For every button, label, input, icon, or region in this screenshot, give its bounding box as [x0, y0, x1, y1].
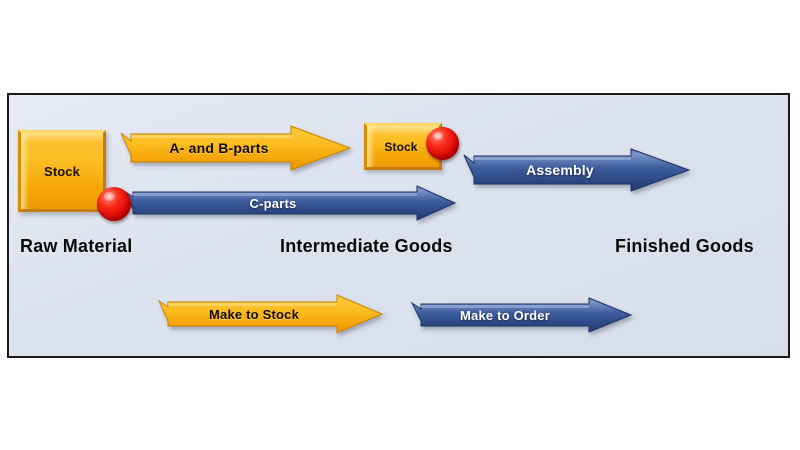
- arrow-shape: [159, 294, 383, 334]
- stage-label-intermediate-goods: Intermediate Goods: [280, 236, 453, 257]
- diagram-frame: Stock A- and B-parts Stock Assembly: [7, 93, 790, 358]
- decoupling-point-intermediate-dot[interactable]: [426, 127, 459, 160]
- stock-box-label: Stock: [44, 164, 80, 179]
- arrow-shape: [412, 297, 632, 333]
- arrow-assembly[interactable]: Assembly: [464, 148, 690, 192]
- arrow-shape: [121, 125, 351, 171]
- arrow-shape: [124, 185, 456, 221]
- bevel-highlight-left: [21, 133, 29, 209]
- decoupling-point-raw-dot[interactable]: [97, 187, 131, 221]
- legend-arrow-make-to-order[interactable]: Make to Order: [412, 297, 632, 333]
- arrow-shape: [464, 148, 690, 192]
- stage-label-finished-goods: Finished Goods: [615, 236, 754, 257]
- stage-label-raw-material: Raw Material: [20, 236, 132, 257]
- diagram-canvas: Stock A- and B-parts Stock Assembly: [0, 0, 800, 450]
- arrow-c-parts[interactable]: C-parts: [124, 185, 456, 221]
- legend-arrow-make-to-stock[interactable]: Make to Stock: [159, 294, 383, 334]
- stock-box-label: Stock: [384, 140, 421, 154]
- stock-box-raw-material[interactable]: Stock: [18, 130, 106, 212]
- arrow-a-and-b-parts[interactable]: A- and B-parts: [121, 125, 351, 171]
- bevel-highlight-top: [21, 133, 103, 142]
- bevel-highlight-left: [367, 126, 375, 167]
